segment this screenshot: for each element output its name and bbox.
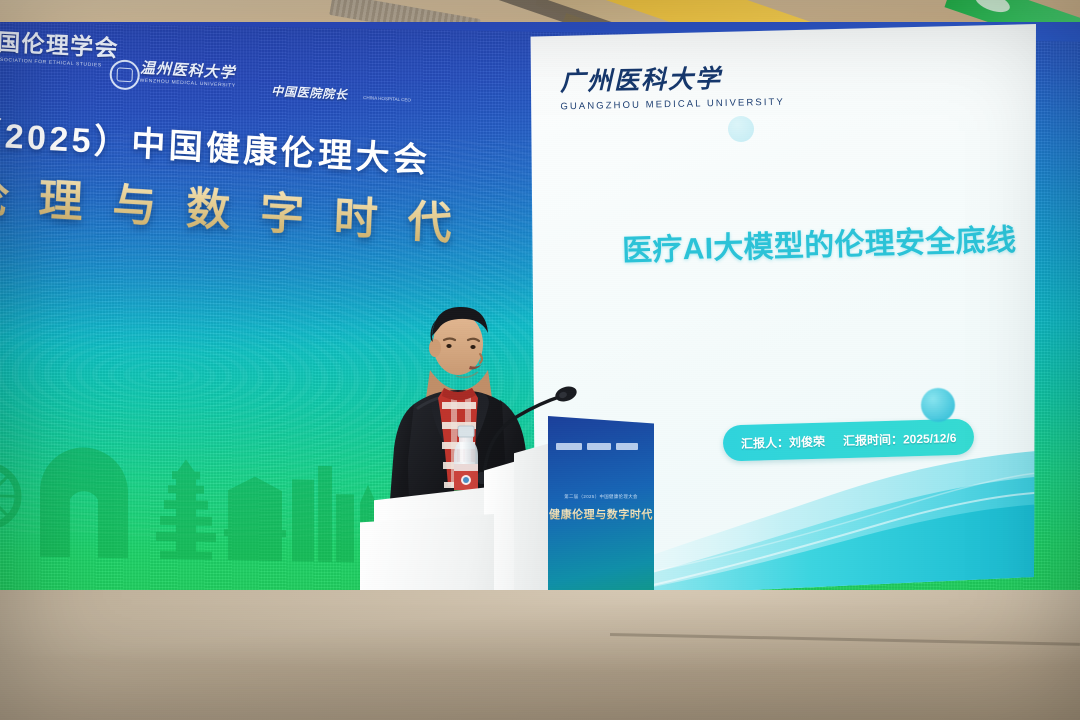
stage-floor-shading (0, 590, 1080, 720)
logo-hospital-ceo-cn: 中国医院院长 (271, 82, 348, 103)
slide-title: 医疗AI大模型的伦理安全底线 (621, 214, 1036, 270)
slide-institution-en: GUANGZHOU MEDICAL UNIVERSITY (560, 97, 785, 113)
podium-panel-subtitle: 第二届（2025）中国健康伦理大会 (548, 494, 654, 500)
wenzhou-emblem-icon (109, 59, 140, 91)
slide-accent-dot-small (728, 116, 754, 142)
podium-sponsor-logo-2 (587, 443, 611, 450)
stage-floor (0, 590, 1080, 720)
logo-china-ethics: 中国伦理学会 CHINA ASSOCIATION FOR ETHICAL STU… (0, 21, 120, 69)
podium-sponsor-logos (556, 440, 642, 452)
podium-panel-title: 健康伦理与数字时代 (548, 506, 654, 522)
podium-sponsor-logo-1 (556, 443, 582, 450)
slide-institution-cn: 广州医科大学 (560, 58, 785, 99)
logo-hospital-ceo-en: CHINA HOSPITAL CEO (363, 95, 411, 103)
slide-institution-logo: 广州医科大学 GUANGZHOU MEDICAL UNIVERSITY (560, 58, 785, 113)
logo-wenzhou-medical: 温州医科大学 WENZHOU MEDICAL UNIVERSITY (139, 57, 236, 89)
conference-stage-photo: 中国伦理学会 CHINA ASSOCIATION FOR ETHICAL STU… (0, 0, 1080, 720)
podium-sponsor-logo-3 (616, 443, 638, 450)
logo-china-hospital-ceo: 中国医院院长 (271, 82, 348, 103)
